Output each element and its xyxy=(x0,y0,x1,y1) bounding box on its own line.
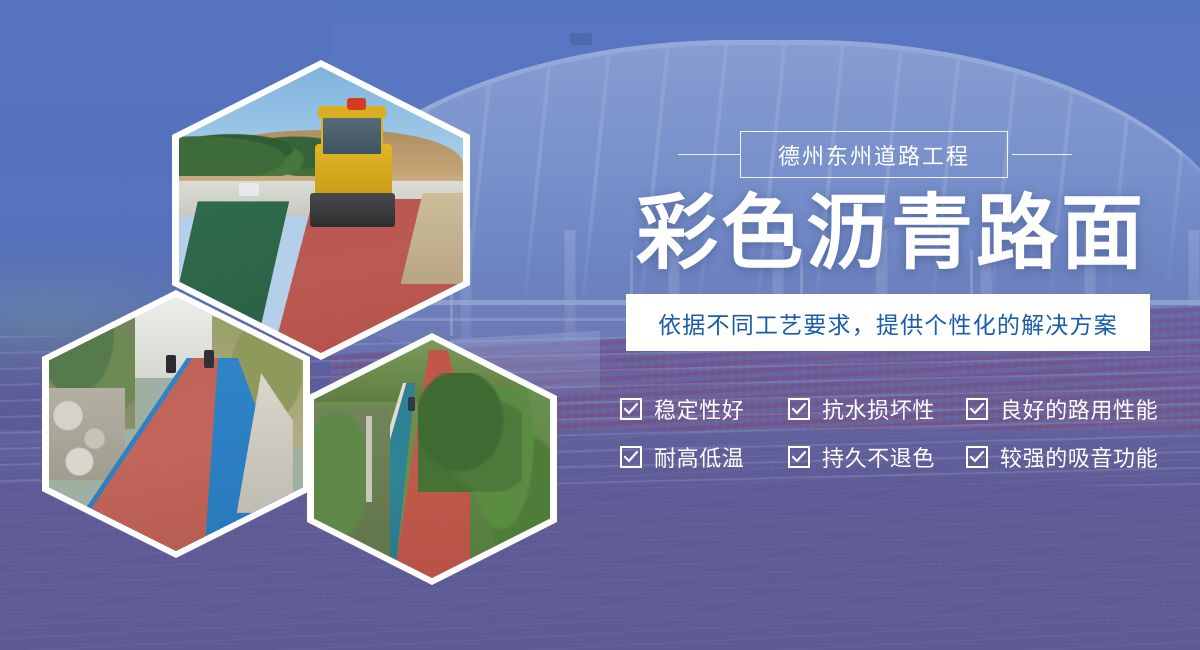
eyebrow: 德州东州道路工程 xyxy=(620,131,1080,179)
photo-greenway-lamp-post xyxy=(366,416,372,502)
photo-greenway-scene xyxy=(314,340,550,578)
subtitle-panel: 依据不同工艺要求，提供个性化的解决方案 xyxy=(626,294,1150,351)
hexagon-photo-greenway-image xyxy=(314,340,550,578)
feature-item: 持久不退色 xyxy=(788,441,966,473)
photo-roller-car xyxy=(239,183,259,196)
feature-label: 稳定性好 xyxy=(654,393,744,425)
photo-mountain-road-motorcycle-1 xyxy=(166,355,176,373)
feature-item: 稳定性好 xyxy=(620,393,788,425)
checkbox-check-icon xyxy=(788,398,810,420)
photo-roller-machine-cab xyxy=(321,116,383,156)
feature-label: 持久不退色 xyxy=(822,441,935,473)
eyebrow-label: 德州东州道路工程 xyxy=(778,139,970,171)
photo-roller-machine-beacon xyxy=(347,98,367,109)
checkbox-check-icon xyxy=(788,446,810,468)
checkbox-check-icon xyxy=(966,446,988,468)
checkbox-check-icon xyxy=(620,446,642,468)
feature-item: 良好的路用性能 xyxy=(966,393,1180,425)
eyebrow-box: 德州东州道路工程 xyxy=(740,131,1008,178)
eyebrow-rule-right xyxy=(1012,154,1072,155)
photo-mountain-road-scene xyxy=(49,297,303,551)
feature-label: 耐高低温 xyxy=(654,441,744,473)
feature-item: 抗水损坏性 xyxy=(788,393,966,425)
feature-item: 耐高低温 xyxy=(620,441,788,473)
photo-mountain-road-motorcycle-2 xyxy=(204,350,214,368)
checkbox-check-icon xyxy=(620,398,642,420)
promo-banner: 德州东州道路工程 彩色沥青路面 依据不同工艺要求，提供个性化的解决方案 稳定性好… xyxy=(0,0,1200,650)
page-title: 彩色沥青路面 xyxy=(636,190,1146,278)
feature-list: 稳定性好 抗水损坏性 良好的路用性能 耐高低温 持久不退色 xyxy=(620,393,1180,473)
feature-label: 抗水损坏性 xyxy=(822,393,935,425)
photo-roller-machine-drum xyxy=(310,193,395,227)
photo-greenway-tree xyxy=(418,373,522,492)
photo-mountain-road-rocks xyxy=(49,388,125,479)
photo-greenway-person xyxy=(408,397,414,411)
checkbox-check-icon xyxy=(966,398,988,420)
subtitle-label: 依据不同工艺要求，提供个性化的解决方案 xyxy=(658,306,1118,340)
feature-label: 良好的路用性能 xyxy=(1000,393,1158,425)
feature-item: 较强的吸音功能 xyxy=(966,441,1180,473)
hexagon-photo-mountain-road-image xyxy=(49,297,303,551)
feature-label: 较强的吸音功能 xyxy=(1000,441,1158,473)
eyebrow-rule-left xyxy=(678,154,740,155)
